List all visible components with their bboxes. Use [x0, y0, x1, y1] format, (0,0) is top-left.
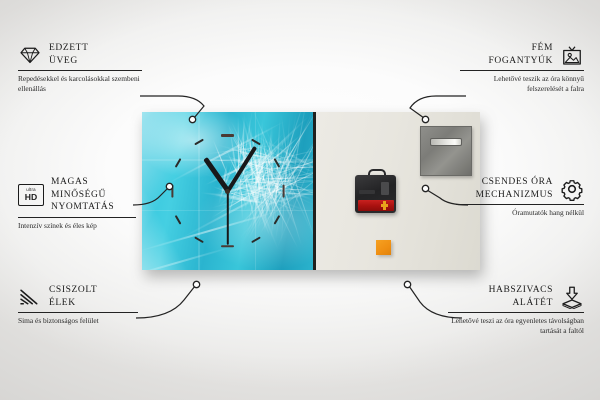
clock-front-panel [142, 112, 316, 270]
callout-metal-handles: FÉM FOGANTYÚK Lehetővé teszik az óra kön… [460, 42, 584, 93]
clock-tick [221, 134, 234, 136]
callout-description: Lehetővé teszik az óra könnyű felszerelé… [460, 74, 584, 93]
wire-polished-edges [136, 286, 195, 318]
beveled-edge-icon [18, 285, 42, 309]
callout-polished-edges: CSISZOLT ÉLEK Sima és biztonságos felüle… [18, 284, 138, 326]
metal-hanger-icon [420, 126, 472, 176]
callout-description: Lehetővé teszi az óra egyenletes távolsá… [448, 316, 584, 335]
print-seam [198, 112, 200, 270]
press-pad-icon [560, 285, 584, 309]
callout-hq-print: ultra HD MAGAS MINŐSÉGŰ NYOMTATÁS Intenz… [18, 176, 136, 230]
hanger-slot [430, 138, 462, 146]
callout-description: Óramutatók hang nélkül [456, 208, 584, 218]
clock-tick [282, 184, 284, 197]
diamond-icon [18, 43, 42, 67]
ultra-hd-icon: ultra HD [18, 184, 44, 206]
battery-terminal-cross [381, 204, 388, 207]
mechanism-dial [381, 182, 389, 195]
callout-tempered-glass: EDZETT ÜVEG Repedésekkel és karcolásokka… [18, 42, 142, 93]
clock-hand [227, 191, 229, 245]
battery [358, 200, 394, 211]
clock-mechanism [355, 175, 396, 213]
callout-foam-pad: HABSZIVACS ALÁTÉT Lehetővé teszi az óra … [448, 284, 584, 335]
gear-icon [560, 177, 584, 201]
divider [18, 217, 136, 218]
callout-title: CSISZOLT ÉLEK [49, 284, 97, 309]
clock-tick [175, 215, 182, 225]
callout-title: CSENDES ÓRA MECHANIZMUS [476, 176, 553, 201]
picture-hanger-icon [560, 43, 584, 67]
callout-title: MAGAS MINŐSÉGŰ NYOMTATÁS [51, 176, 136, 214]
wire-dot-foam-pad [404, 281, 410, 287]
callout-description: Sima és biztonságos felület [18, 316, 138, 326]
clock-hub [225, 189, 230, 194]
foam-pad [376, 240, 391, 255]
callout-silent-mechanism: CSENDES ÓRA MECHANIZMUS Óramutatók hang … [456, 176, 584, 218]
infographic-canvas: EDZETT ÜVEG Repedésekkel és karcolásokka… [0, 0, 600, 400]
callout-title: HABSZIVACS ALÁTÉT [489, 284, 553, 309]
product-image [142, 112, 480, 270]
clock-tick [171, 184, 173, 197]
divider [460, 70, 584, 71]
wire-dot-polished-edges [193, 281, 199, 287]
callout-description: Intenzív színek és éles kép [18, 221, 136, 231]
divider [18, 312, 138, 313]
mechanism-ridge [359, 190, 375, 194]
divider [18, 70, 142, 71]
callout-title: EDZETT ÜVEG [49, 42, 88, 67]
callout-description: Repedésekkel és karcolásokkal szembeni e… [18, 74, 142, 93]
feather-sweep [142, 246, 234, 270]
divider [448, 312, 584, 313]
divider [456, 204, 584, 205]
callout-title: FÉM FOGANTYÚK [488, 42, 553, 67]
